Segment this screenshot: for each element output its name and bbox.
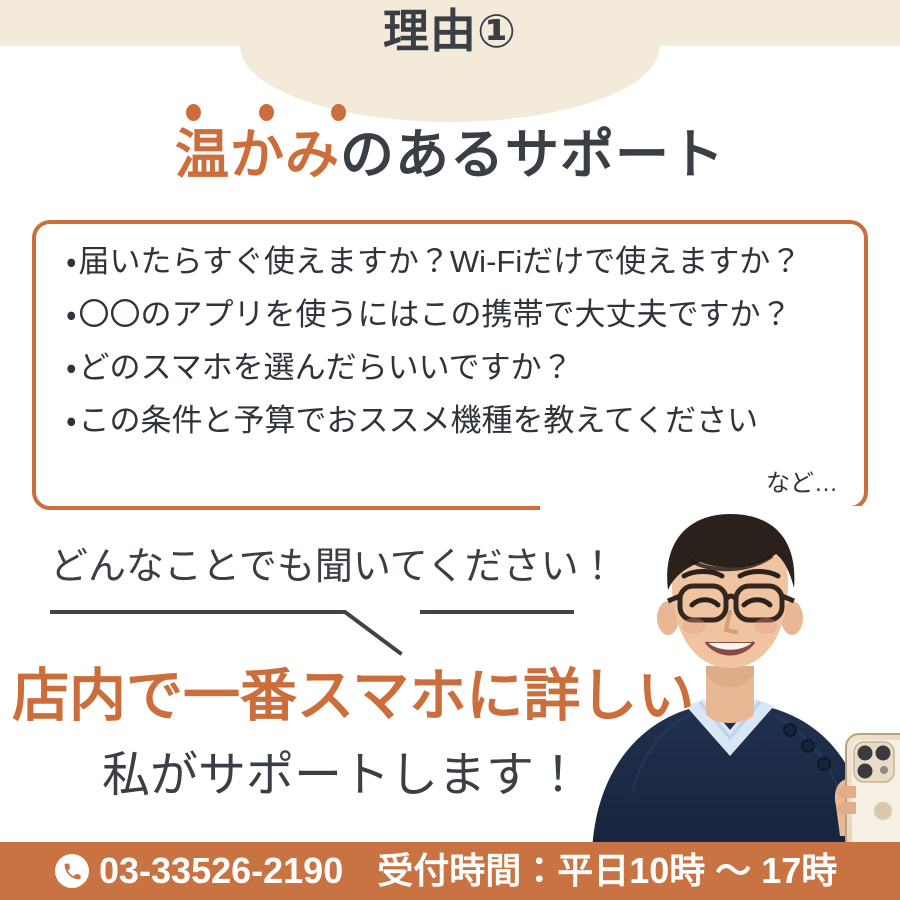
bullet-marker: ・ (66, 244, 77, 279)
section-subtitle: 温かみのあるサポート (0, 126, 900, 185)
emphasis-dot (331, 104, 346, 121)
bullet-marker: ・ (66, 350, 77, 385)
list-item: ・届いたらすぐ使えますか？Wi-Fiだけで使えますか？ (66, 246, 848, 277)
bullet-marker: ・ (66, 403, 77, 438)
list-item: ・この条件と予算でおススメ機種を教えてください (66, 405, 848, 436)
emphasis-dot (186, 104, 201, 121)
ask-anything-text: どんなことでも聞いてください！ (50, 548, 617, 586)
speech-bubble-underline (40, 595, 610, 665)
subtitle-highlight: 温かみ (175, 125, 340, 185)
list-item-text: どのスマホを選んだらいいですか？ (79, 350, 573, 385)
business-hours: 受付時間：平日10時 〜 17時 (377, 853, 837, 889)
list-item-text: 届いたらすぐ使えますか？Wi-Fiだけで使えますか？ (79, 244, 802, 279)
list-item: ・〇〇のアプリを使うにはこの携帯で大丈夫ですか？ (66, 299, 848, 330)
footer-bar: 03-33526-2190 受付時間：平日10時 〜 17時 (0, 842, 900, 900)
emphasis-dots (186, 104, 346, 121)
bullet-marker: ・ (66, 297, 77, 332)
question-list: ・届いたらすぐ使えますか？Wi-Fiだけで使えますか？ ・〇〇のアプリを使うには… (66, 246, 848, 458)
phone-number[interactable]: 03-33526-2190 (99, 853, 343, 889)
list-item: ・どのスマホを選んだらいいですか？ (66, 352, 848, 383)
subtitle-rest: のあるサポート (340, 125, 725, 185)
etcetera-label: など… (766, 472, 838, 496)
list-item-text: 〇〇のアプリを使うにはこの携帯で大丈夫ですか？ (79, 297, 792, 332)
poster-root: 理由① 温かみのあるサポート ・届いたらすぐ使えますか？Wi-Fiだけで使えます… (0, 0, 900, 900)
headline-secondary: 私がサポートします！ (102, 752, 582, 800)
list-item-text: この条件と予算でおススメ機種を教えてください (79, 403, 759, 438)
phone-icon[interactable] (55, 854, 89, 888)
banner-title: 理由① (0, 8, 900, 54)
headline-primary: 店内で一番スマホに詳しい (12, 668, 694, 725)
question-box: ・届いたらすぐ使えますか？Wi-Fiだけで使えますか？ ・〇〇のアプリを使うには… (32, 220, 868, 510)
emphasis-dot (259, 104, 274, 121)
